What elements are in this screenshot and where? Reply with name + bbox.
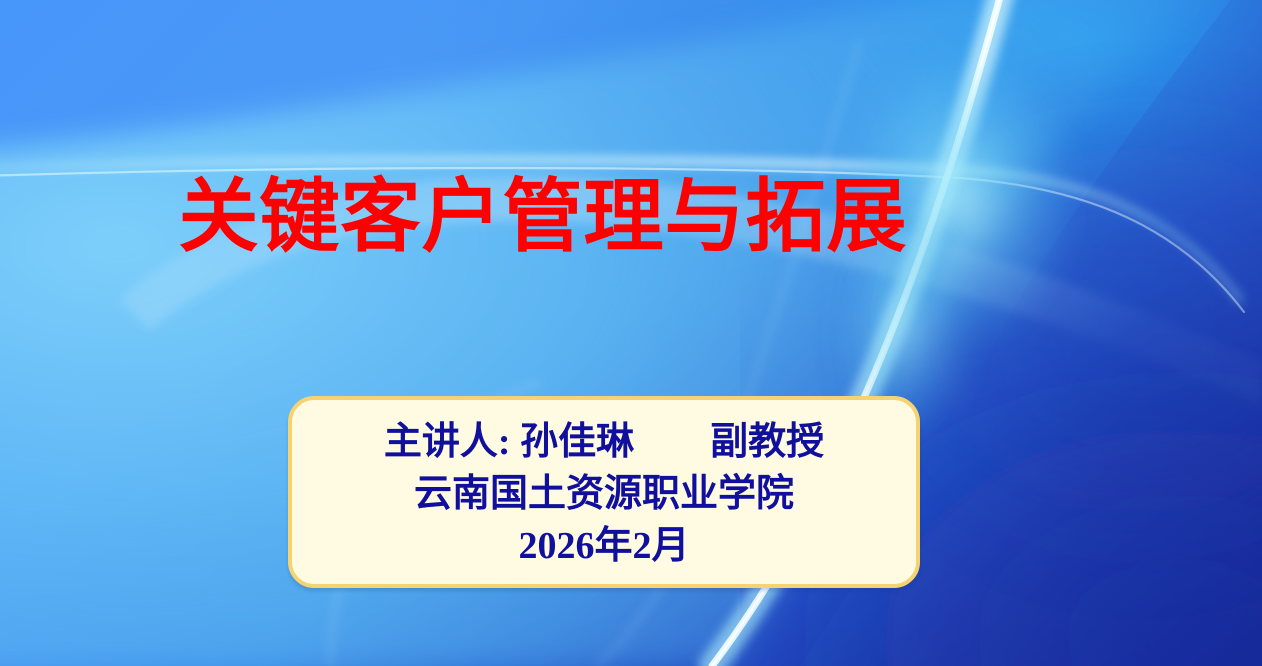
presenter-name-line: 主讲人: 孙佳琳 副教授 bbox=[384, 416, 824, 468]
page-title: 关键客户管理与拓展 bbox=[0, 168, 1262, 266]
presentation-slide: 关键客户管理与拓展 主讲人: 孙佳琳 副教授 云南国土资源职业学院 2026年2… bbox=[0, 0, 1262, 666]
date-line: 2026年2月 bbox=[518, 520, 689, 572]
institution-line: 云南国土资源职业学院 bbox=[414, 468, 794, 520]
presenter-info-card: 主讲人: 孙佳琳 副教授 云南国土资源职业学院 2026年2月 bbox=[288, 396, 920, 588]
